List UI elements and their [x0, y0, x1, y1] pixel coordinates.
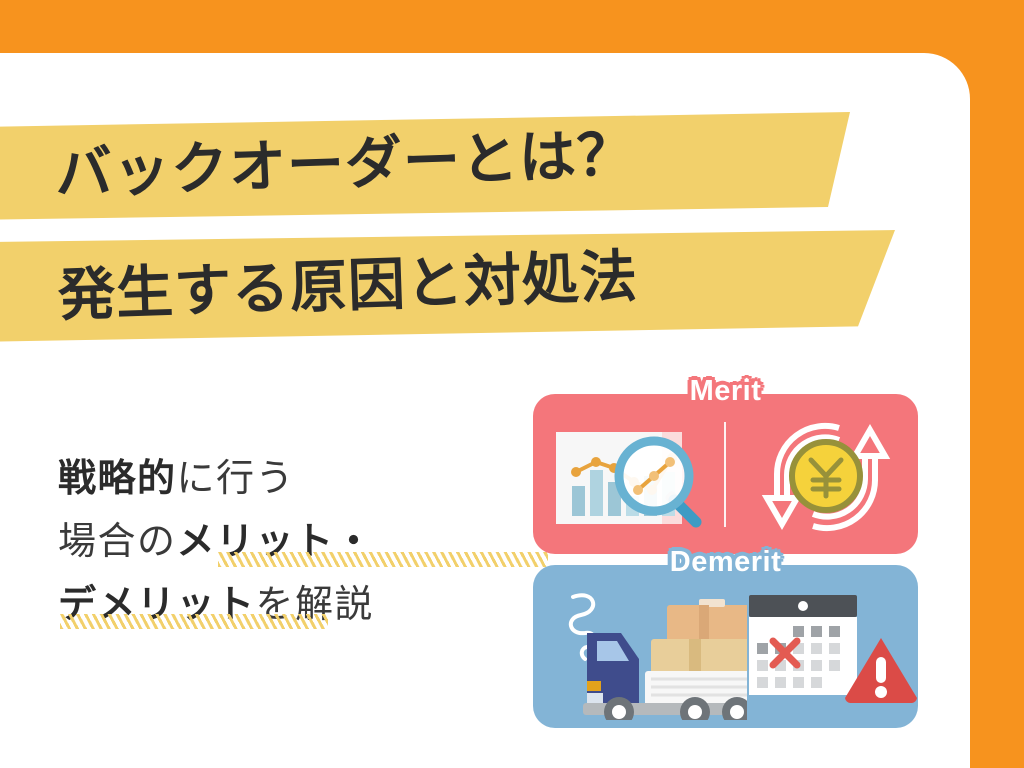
demerit-card: Demerit: [533, 565, 918, 728]
merit-card-label: Merit: [533, 375, 918, 408]
page-background: バックオーダーとは？ 発生する原因と対処法 戦略的に行う 場合のメリット・ デメ…: [0, 0, 1024, 768]
highlight-underline-2: [60, 614, 328, 629]
subtitle-strong-1: 戦略的: [58, 458, 177, 500]
delivery-truck-icon: [547, 585, 747, 720]
subtitle-light-2: 場合の: [58, 521, 177, 563]
warning-triangle-icon: [843, 635, 919, 705]
subtitle-rest-1: に行う: [177, 458, 296, 500]
bar-chart-magnifier-icon: [554, 424, 719, 534]
subtitle-block: 戦略的に行う 場合のメリット・ デメリットを解説: [58, 448, 528, 637]
subtitle-line-1: 戦略的に行う: [58, 448, 528, 511]
highlight-underline-1: [218, 552, 548, 567]
merit-card-divider: [724, 422, 726, 527]
merit-card: Merit: [533, 394, 918, 554]
demerit-card-label: Demerit: [533, 546, 918, 579]
yen-coin-cycle-icon: [751, 412, 901, 542]
